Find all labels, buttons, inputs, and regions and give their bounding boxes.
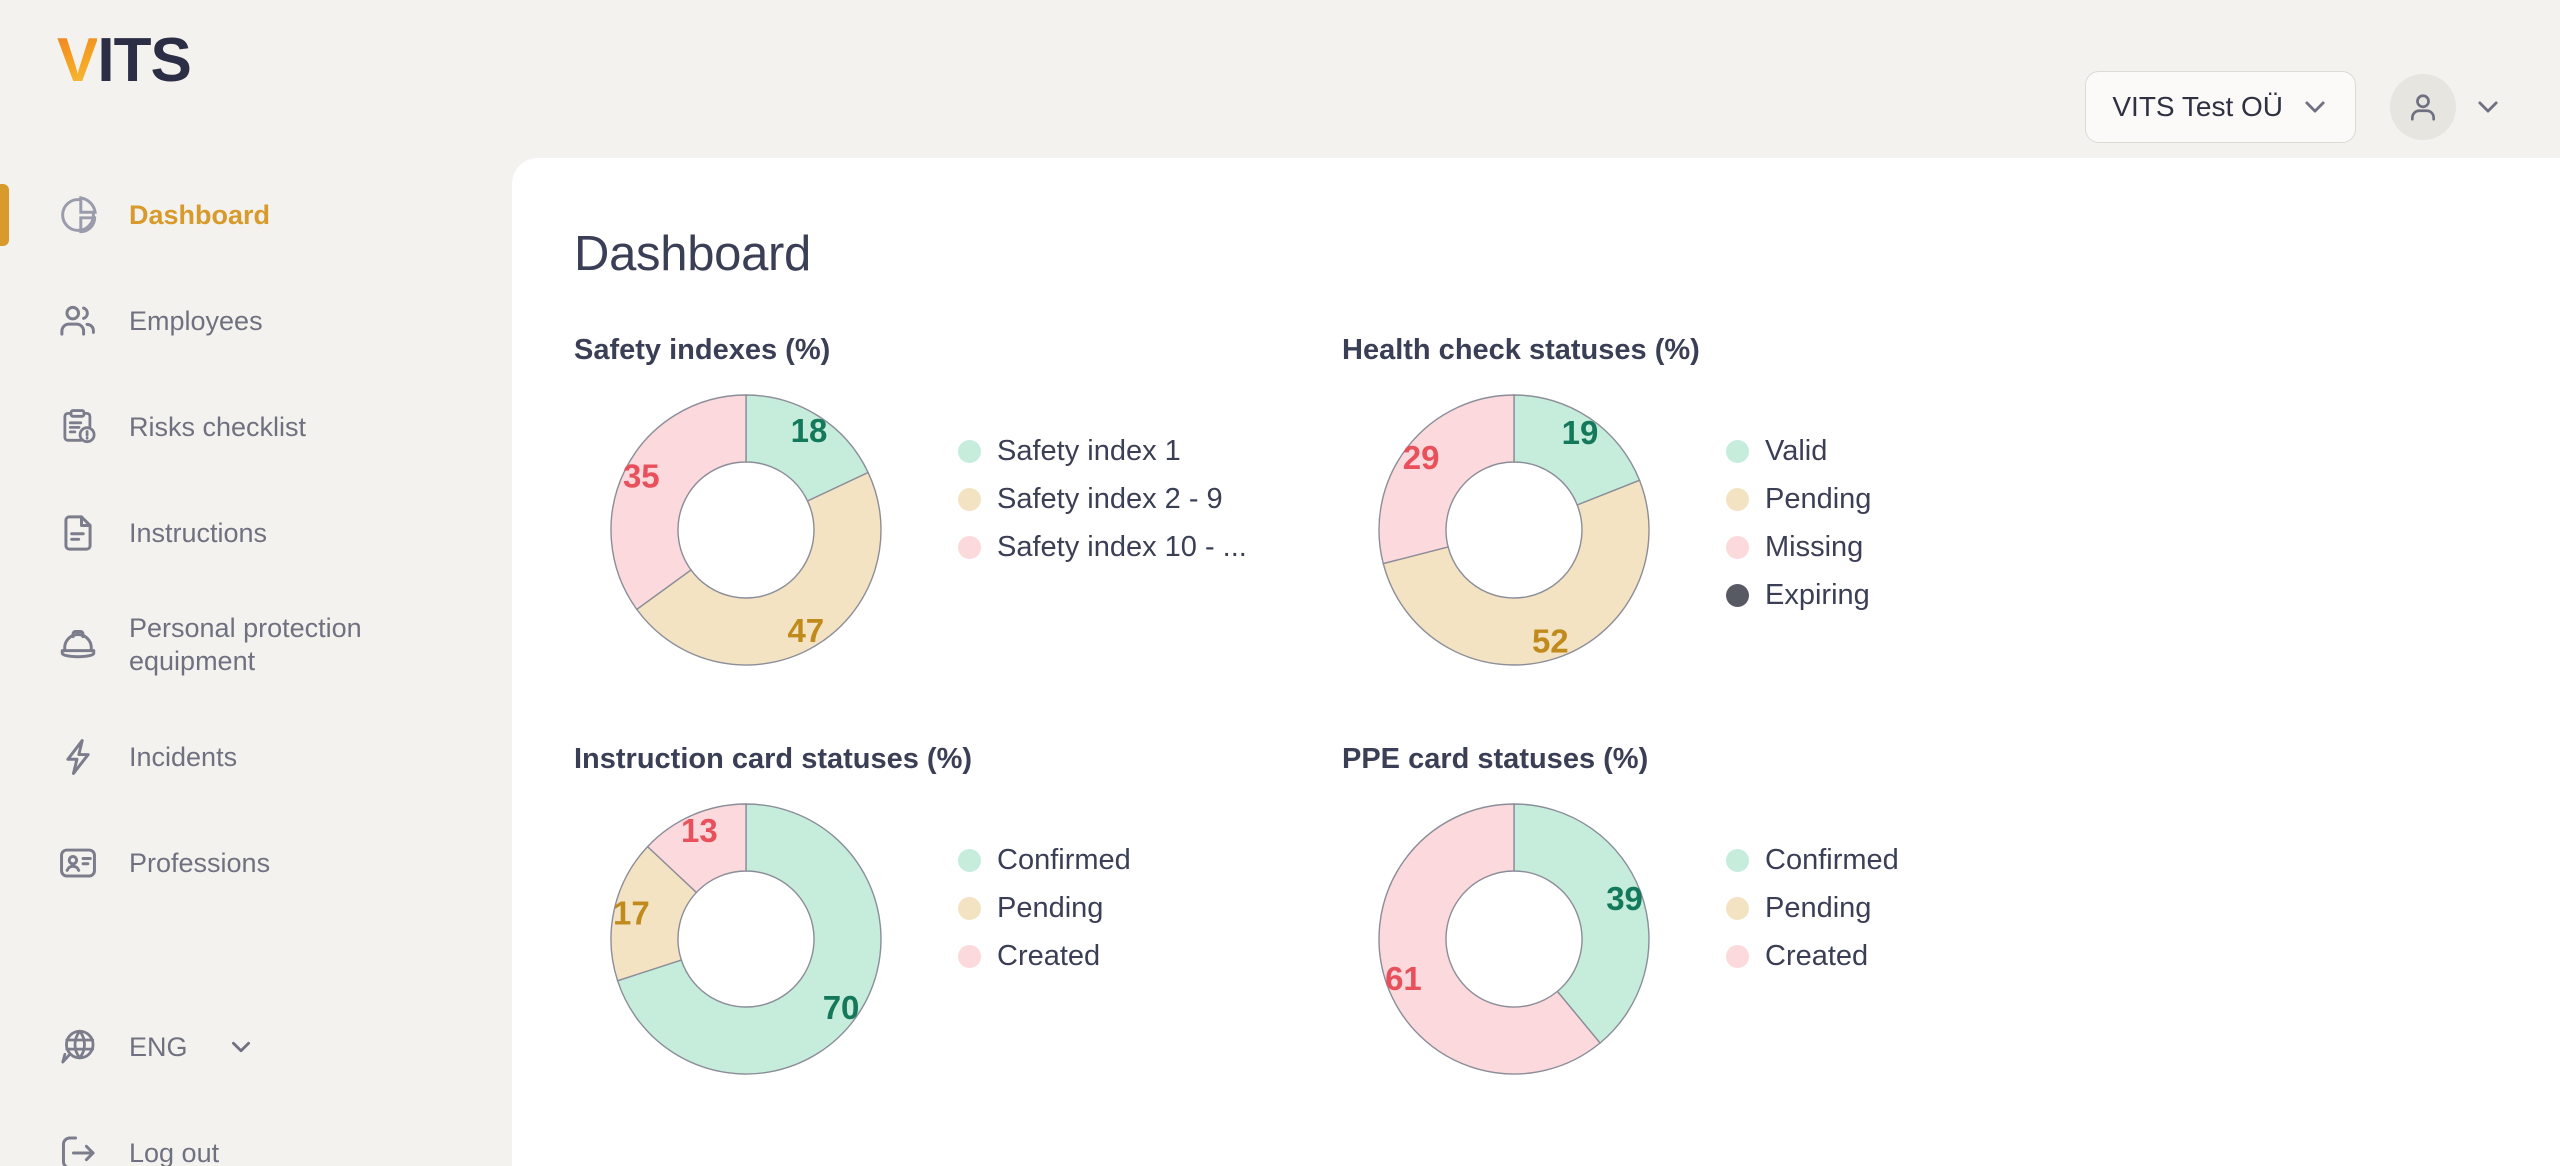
legend-color-dot: [1726, 897, 1749, 920]
globe-language-icon: [57, 1026, 99, 1068]
legend-label: Safety index 1: [997, 435, 1181, 468]
chart-panel-safety-indexes: Safety indexes (%) 184735 Safety index 1…: [574, 334, 1342, 675]
sidebar-item-label: Risks checklist: [129, 411, 306, 444]
chart-title: Instruction card statuses (%): [574, 743, 1342, 776]
dashboard-charts-grid: Safety indexes (%) 184735 Safety index 1…: [512, 282, 2560, 1084]
legend-color-dot: [1726, 584, 1749, 607]
legend-color-dot: [958, 945, 981, 968]
donut-slice-value: 29: [1403, 439, 1440, 476]
legend-item[interactable]: Expiring: [1726, 571, 1871, 619]
sidebar-item-professions[interactable]: Professions: [0, 810, 512, 916]
chart-legend: ConfirmedPendingCreated: [1726, 794, 1899, 980]
user-avatar-icon: [2390, 74, 2456, 140]
legend-color-dot: [1726, 536, 1749, 559]
donut-chart-health-check-statuses[interactable]: 195229: [1364, 385, 1664, 675]
donut-slice-value: 17: [613, 894, 650, 931]
logout-button[interactable]: Log out: [0, 1100, 512, 1166]
legend-item[interactable]: Pending: [1726, 475, 1871, 523]
app-root: VITS Dashboard Employees: [0, 0, 2560, 1166]
legend-item[interactable]: Confirmed: [958, 836, 1131, 884]
sidebar-item-label: Dashboard: [129, 199, 270, 232]
chart-title: Health check statuses (%): [1342, 334, 2110, 367]
legend-item[interactable]: Missing: [1726, 523, 1871, 571]
organization-selector[interactable]: VITS Test OÜ: [2085, 71, 2356, 143]
legend-item[interactable]: Safety index 1: [958, 427, 1247, 475]
legend-label: Pending: [997, 892, 1103, 925]
legend-label: Created: [1765, 940, 1868, 973]
sidebar-item-label: Employees: [129, 305, 263, 338]
donut-slice[interactable]: [611, 395, 746, 609]
users-icon: [57, 300, 99, 342]
chevron-down-icon: [228, 1034, 254, 1060]
main-content: Dashboard Safety indexes (%) 184735 Safe…: [512, 158, 2560, 1166]
chevron-down-icon: [2474, 93, 2502, 121]
legend-label: Safety index 10 - ...: [997, 531, 1247, 564]
logo-v-letter: V: [57, 26, 97, 95]
sidebar-item-label: Personal protection equipment: [129, 612, 419, 678]
sidebar: VITS Dashboard Employees: [0, 0, 512, 1166]
legend-label: Pending: [1765, 483, 1871, 516]
legend-color-dot: [1726, 488, 1749, 511]
chart-title: Safety indexes (%): [574, 334, 1342, 367]
sidebar-nav: Dashboard Employees: [0, 162, 512, 1166]
legend-item[interactable]: Safety index 10 - ...: [958, 523, 1247, 571]
pie-chart-icon: [57, 194, 99, 236]
clipboard-alert-icon: [57, 406, 99, 448]
id-badge-icon: [57, 842, 99, 884]
legend-label: Missing: [1765, 531, 1863, 564]
donut-chart-instruction-card-statuses[interactable]: 701713: [596, 794, 896, 1084]
legend-color-dot: [958, 849, 981, 872]
sidebar-item-label: Professions: [129, 847, 270, 880]
sidebar-item-personal-protection-equipment[interactable]: Personal protection equipment: [0, 586, 512, 704]
sidebar-item-label: Instructions: [129, 517, 267, 550]
legend-item[interactable]: Created: [958, 932, 1131, 980]
donut-slice-value: 35: [623, 458, 660, 495]
donut-slice[interactable]: [1379, 395, 1514, 564]
document-icon: [57, 512, 99, 554]
donut-slice-value: 39: [1606, 880, 1643, 917]
legend-label: Created: [997, 940, 1100, 973]
chart-legend: Safety index 1Safety index 2 - 9Safety i…: [958, 385, 1247, 571]
chart-panel-ppe-card-statuses: PPE card statuses (%) 3961 ConfirmedPend…: [1342, 743, 2110, 1084]
legend-color-dot: [958, 897, 981, 920]
donut-slice-value: 61: [1385, 960, 1422, 997]
logout-label: Log out: [129, 1137, 219, 1166]
legend-item[interactable]: Confirmed: [1726, 836, 1899, 884]
donut-slice-value: 52: [1532, 623, 1569, 660]
sidebar-item-incidents[interactable]: Incidents: [0, 704, 512, 810]
legend-color-dot: [958, 440, 981, 463]
sidebar-item-employees[interactable]: Employees: [0, 268, 512, 374]
page-title: Dashboard: [512, 158, 2560, 282]
donut-chart-safety-indexes[interactable]: 184735: [596, 385, 896, 675]
legend-color-dot: [958, 536, 981, 559]
chevron-down-icon: [2301, 93, 2329, 121]
legend-label: Pending: [1765, 892, 1871, 925]
app-logo[interactable]: VITS: [0, 30, 512, 92]
hard-hat-icon: [57, 624, 99, 666]
donut-slice-value: 19: [1562, 414, 1599, 451]
logout-arrow-icon: [57, 1132, 99, 1166]
donut-slice-value: 13: [681, 812, 718, 849]
legend-label: Confirmed: [997, 844, 1131, 877]
legend-color-dot: [1726, 849, 1749, 872]
donut-chart-ppe-card-statuses[interactable]: 3961: [1364, 794, 1664, 1084]
language-selector[interactable]: ENG: [0, 994, 512, 1100]
language-label: ENG: [129, 1031, 188, 1064]
chart-panel-instruction-card-statuses: Instruction card statuses (%) 701713 Con…: [574, 743, 1342, 1084]
chart-title: PPE card statuses (%): [1342, 743, 2110, 776]
sidebar-item-risks-checklist[interactable]: Risks checklist: [0, 374, 512, 480]
legend-item[interactable]: Pending: [1726, 884, 1899, 932]
legend-label: Safety index 2 - 9: [997, 483, 1223, 516]
legend-color-dot: [958, 488, 981, 511]
chart-legend: ValidPendingMissingExpiring: [1726, 385, 1871, 619]
sidebar-item-dashboard[interactable]: Dashboard: [0, 162, 512, 268]
chart-panel-health-check-statuses: Health check statuses (%) 195229 ValidPe…: [1342, 334, 2110, 675]
donut-slice-value: 70: [823, 989, 860, 1026]
sidebar-item-label: Incidents: [129, 741, 237, 774]
organization-name: VITS Test OÜ: [2112, 91, 2283, 123]
legend-label: Valid: [1765, 435, 1827, 468]
logo-its-letters: ITS: [97, 26, 190, 95]
sidebar-bottom-group: ENG Log out: [0, 994, 512, 1166]
account-menu[interactable]: [2390, 74, 2502, 140]
legend-color-dot: [1726, 945, 1749, 968]
legend-item[interactable]: Safety index 2 - 9: [958, 475, 1247, 523]
chart-legend: ConfirmedPendingCreated: [958, 794, 1131, 980]
legend-label: Confirmed: [1765, 844, 1899, 877]
legend-color-dot: [1726, 440, 1749, 463]
donut-slice-value: 18: [791, 412, 828, 449]
donut-slice-value: 47: [787, 612, 824, 649]
legend-item[interactable]: Created: [1726, 932, 1899, 980]
legend-label: Expiring: [1765, 579, 1870, 612]
lightning-bolt-icon: [57, 736, 99, 778]
sidebar-item-instructions[interactable]: Instructions: [0, 480, 512, 586]
legend-item[interactable]: Valid: [1726, 427, 1871, 475]
legend-item[interactable]: Pending: [958, 884, 1131, 932]
